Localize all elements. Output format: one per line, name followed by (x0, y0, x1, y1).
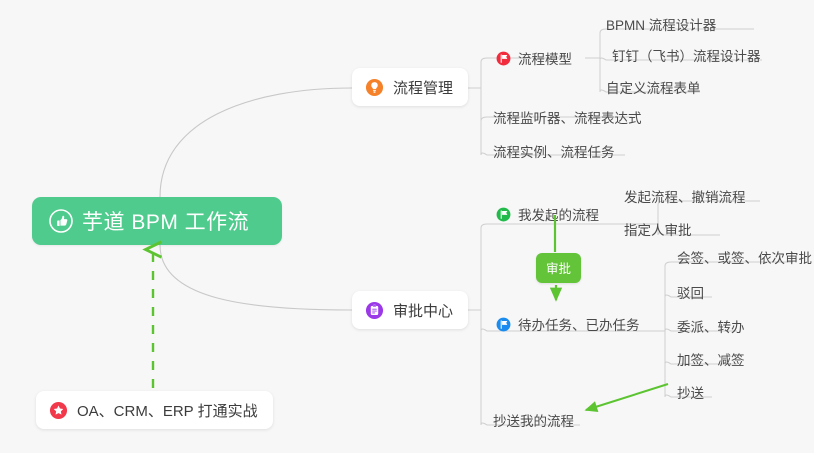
node-label-flow-listener: 流程监听器、流程表达式 (493, 107, 642, 127)
root-label: 芋道 BPM 工作流 (82, 206, 249, 236)
node-todo-done-tasks[interactable]: 待办任务、已办任务 (492, 311, 650, 338)
node-start-cancel-flow[interactable]: 发起流程、撤销流程 (620, 183, 756, 210)
annotation-tag-approval-label: 审批 (546, 262, 571, 276)
flag-icon-red (496, 51, 511, 66)
branch-label-approval-center: 审批中心 (393, 300, 453, 321)
mindmap-canvas: 芋道 BPM 工作流 流程管理 流程模型 BPMN 流程设计器 钉钉（飞书）流程 (0, 0, 814, 453)
node-flow-instance[interactable]: 流程实例、流程任务 (489, 138, 625, 165)
node-add-remove-sign[interactable]: 加签、减签 (673, 346, 755, 373)
flag-icon-blue (496, 317, 511, 332)
node-label-todo-done-tasks: 待办任务、已办任务 (518, 314, 640, 334)
node-cc-to-me[interactable]: 抄送我的流程 (489, 407, 584, 434)
node-label-custom-form: 自定义流程表单 (606, 77, 701, 97)
node-label-delegate-transfer: 委派、转办 (677, 316, 745, 336)
node-label-cc-to-me: 抄送我的流程 (493, 410, 574, 430)
node-label-add-remove-sign: 加签、减签 (677, 349, 745, 369)
node-label-dingtalk-designer: 钉钉（飞书）流程设计器 (612, 45, 761, 65)
node-countersign[interactable]: 会签、或签、依次审批 (673, 244, 814, 271)
lightbulb-icon (365, 78, 384, 97)
node-bpmn-designer[interactable]: BPMN 流程设计器 (602, 11, 726, 38)
node-dingtalk-designer[interactable]: 钉钉（飞书）流程设计器 (608, 42, 771, 69)
branch-node-approval-center[interactable]: 审批中心 (352, 291, 468, 329)
star-icon (49, 401, 68, 420)
floating-label-oa-crm-erp: OA、CRM、ERP 打通实战 (77, 400, 258, 421)
node-flow-model[interactable]: 流程模型 (492, 45, 582, 72)
node-label-reject: 驳回 (677, 282, 704, 302)
node-label-bpmn-designer: BPMN 流程设计器 (606, 14, 716, 34)
clipboard-icon (365, 301, 384, 320)
node-flow-listener[interactable]: 流程监听器、流程表达式 (489, 104, 652, 131)
node-label-flow-instance: 流程实例、流程任务 (493, 141, 615, 161)
thumbs-up-icon (49, 209, 73, 233)
wire-root-flow (160, 88, 352, 197)
node-label-my-initiated: 我发起的流程 (518, 204, 599, 224)
wire-root-approval (160, 245, 352, 310)
flag-icon-green (496, 207, 511, 222)
annotation-tag-approval: 审批 (536, 253, 581, 283)
node-label-countersign: 会签、或签、依次审批 (677, 247, 812, 267)
node-carbon-copy[interactable]: 抄送 (673, 379, 714, 406)
branch-label-flow-management: 流程管理 (393, 77, 453, 98)
node-delegate-transfer[interactable]: 委派、转办 (673, 313, 755, 340)
node-label-assigned-approval: 指定人审批 (624, 219, 692, 239)
node-label-start-cancel-flow: 发起流程、撤销流程 (624, 186, 746, 206)
node-custom-form[interactable]: 自定义流程表单 (602, 74, 711, 101)
floating-node-oa-crm-erp[interactable]: OA、CRM、ERP 打通实战 (36, 391, 273, 429)
node-reject[interactable]: 驳回 (673, 279, 714, 306)
node-label-flow-model: 流程模型 (518, 48, 572, 68)
root-node[interactable]: 芋道 BPM 工作流 (32, 197, 282, 245)
node-label-carbon-copy: 抄送 (677, 382, 704, 402)
node-assigned-approval[interactable]: 指定人审批 (620, 216, 702, 243)
node-my-initiated[interactable]: 我发起的流程 (492, 201, 609, 228)
branch-node-flow-management[interactable]: 流程管理 (352, 68, 468, 106)
